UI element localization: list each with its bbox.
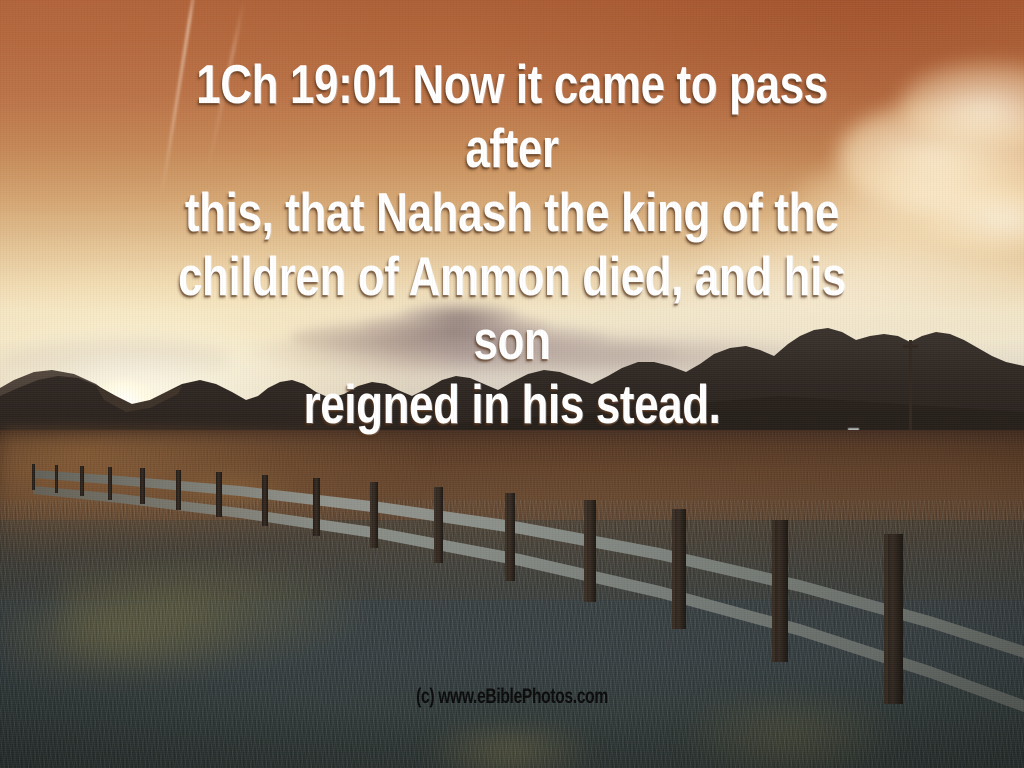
ground-vignette (0, 430, 1024, 768)
watermark-credit: (c) www.eBiblePhotos.com (133, 686, 891, 707)
utility-pole-crossarm (903, 345, 918, 348)
verse-text: 1Ch 19:01 Now it came to pass after this… (144, 52, 880, 436)
scripture-photo-card: 1Ch 19:01 Now it came to pass after this… (0, 0, 1024, 768)
